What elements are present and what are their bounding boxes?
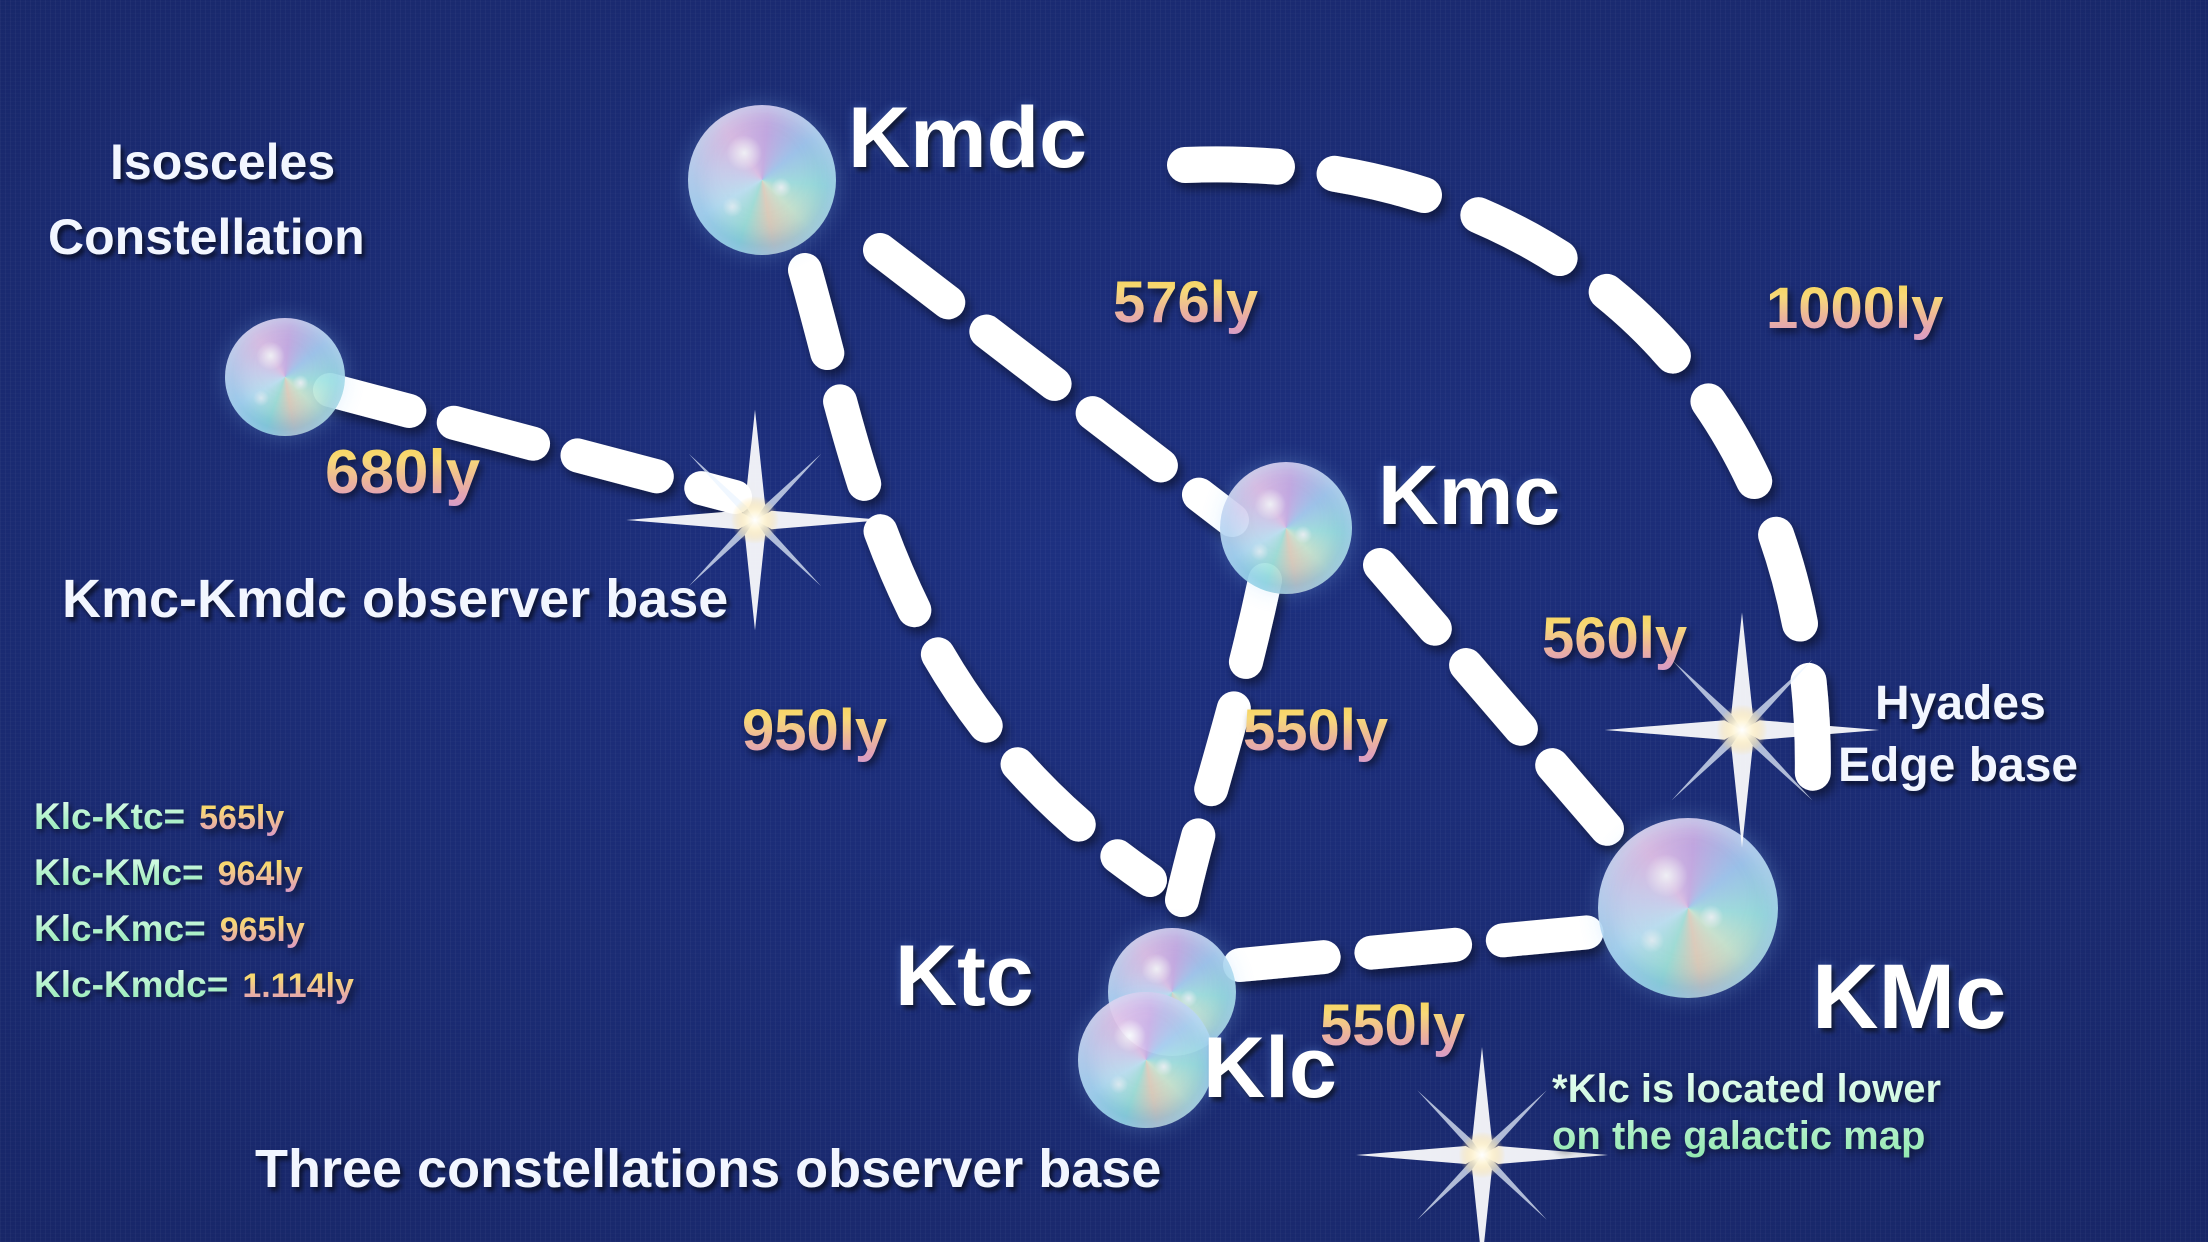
legend-value: 565ly: [199, 799, 284, 838]
constellation-diagram: Isosceles Constellation Kmdc Kmc Ktc Klc…: [0, 0, 2208, 1242]
distance-label-560ly: 560ly: [1542, 608, 1687, 671]
distance-label-1000ly: 1000ly: [1766, 278, 1943, 341]
legend-key: Klc-Ktc=: [34, 796, 185, 838]
footnote-line1: *Klc is located lower: [1552, 1066, 1941, 1113]
star-label-kmdc: Kmdc: [848, 92, 1087, 185]
legend-row: Klc-KMc= 964ly: [34, 852, 354, 908]
distance-label-550ly-center: 550ly: [1243, 700, 1388, 763]
legend-row: Klc-Ktc= 565ly: [34, 796, 354, 852]
distance-label-550ly-lower: 550ly: [1320, 995, 1465, 1058]
page-title-line1: Isosceles: [110, 135, 335, 189]
legend-key: Klc-Kmc=: [34, 908, 206, 950]
legend-row: Klc-Kmc= 965ly: [34, 908, 354, 964]
page-title-line2: Constellation: [48, 210, 365, 264]
legend-value: 965ly: [220, 911, 305, 950]
legend-key: Klc-KMc=: [34, 852, 204, 894]
annotation-hyades-line2: Edge base: [1838, 740, 2078, 792]
star-label-kmc: Kmc: [1378, 450, 1560, 541]
star-label-klc: Klc: [1203, 1022, 1337, 1115]
footnote-line2: on the galactic map: [1552, 1113, 1941, 1160]
legend-value: 964ly: [218, 855, 303, 894]
star-label-ktc: Ktc: [895, 930, 1034, 1023]
legend-key: Klc-Kmdc=: [34, 964, 228, 1006]
annotation-hyades-line1: Hyades: [1875, 678, 2046, 730]
legend-value: 1.114ly: [242, 967, 354, 1006]
distance-reference-legend: Klc-Ktc= 565ly Klc-KMc= 964ly Klc-Kmc= 9…: [34, 796, 354, 1020]
annotation-kmc-kmdc-observer-base: Kmc-Kmdc observer base: [62, 570, 728, 628]
footnote-klc-location: *Klc is located lower on the galactic ma…: [1552, 1066, 1941, 1160]
distance-label-576ly: 576ly: [1113, 272, 1258, 335]
legend-row: Klc-Kmdc= 1.114ly: [34, 964, 354, 1020]
annotation-three-constellations-base: Three constellations observer base: [255, 1140, 1161, 1198]
star-label-kmc-upper: KMc: [1812, 948, 2006, 1047]
distance-label-950ly: 950ly: [742, 700, 887, 763]
distance-label-680ly: 680ly: [325, 440, 480, 507]
